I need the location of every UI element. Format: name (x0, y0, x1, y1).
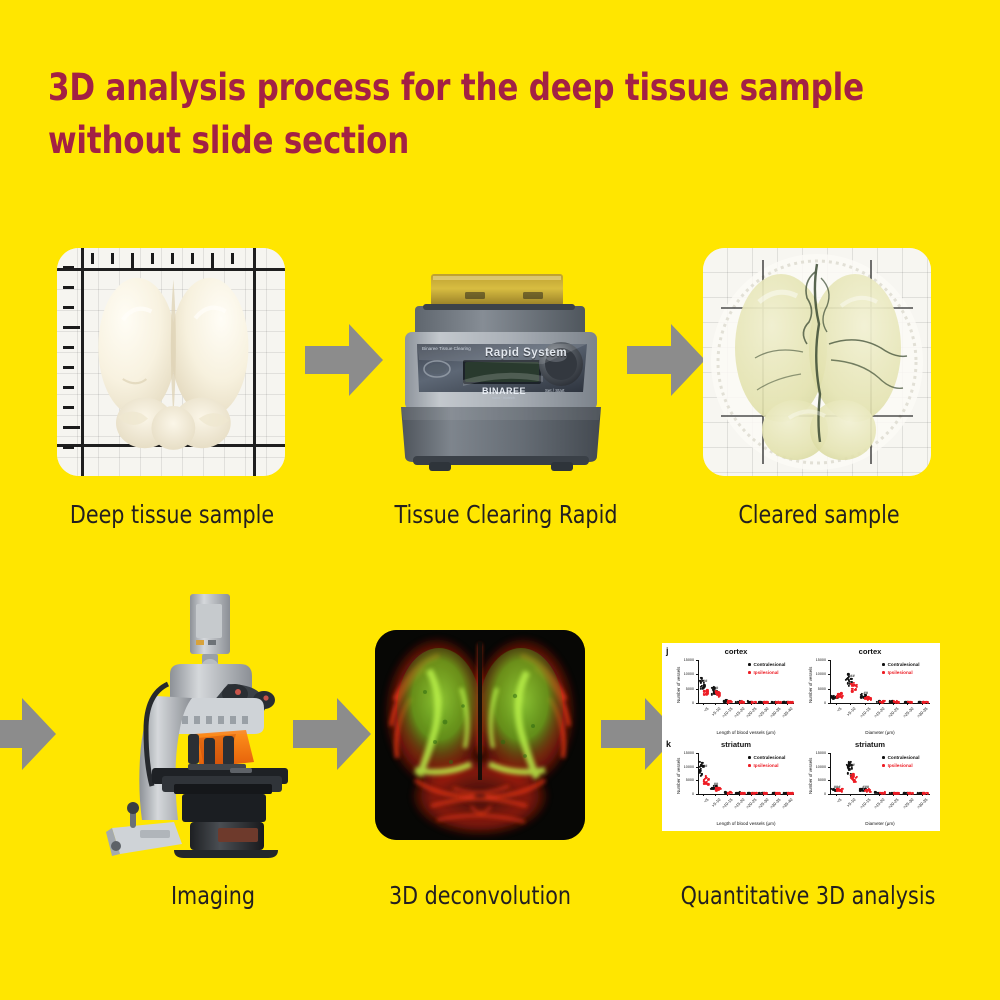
chart-legend-item: Ipsilesional (748, 670, 786, 675)
chart-legend: ContralesionalIpsilesional (882, 755, 920, 771)
arrow-right-icon (627, 324, 705, 396)
chart-y-axis-label: Number of vessels (808, 667, 813, 703)
chart-legend-label: Contralesional (888, 662, 920, 667)
chart-legend-item: Contralesional (882, 755, 920, 760)
chart-x-tick-mark (703, 703, 704, 705)
legend-swatch-icon (748, 671, 751, 674)
chart-x-tick-mark (787, 703, 788, 705)
chart-x-tick-mark (879, 794, 880, 796)
legend-swatch-icon (748, 663, 751, 666)
chart-y-tick-label: 15000 (672, 751, 694, 755)
chart-x-tick-mark (703, 794, 704, 796)
ruler-line-left (81, 248, 84, 476)
chart-legend: ContralesionalIpsilesional (748, 662, 786, 678)
chart-data-point (851, 690, 853, 692)
caption-tissue-clearing: Tissue Clearing Rapid (372, 500, 641, 529)
chart-y-tick-label: 15000 (804, 658, 826, 662)
chart-legend-item: Contralesional (748, 755, 786, 760)
chart-data-point (869, 790, 871, 792)
chart-x-tick-mark (727, 703, 728, 705)
arrow-right-icon (293, 698, 371, 770)
legend-swatch-icon (882, 764, 885, 767)
chart-y-tick-mark (696, 794, 698, 795)
chart-x-tick-mark (763, 794, 764, 796)
chart-x-tick-mark (850, 703, 851, 705)
legend-swatch-icon (748, 756, 751, 759)
chart-legend-label: Contralesional (754, 662, 786, 667)
chart-legend-item: Ipsilesional (882, 763, 920, 768)
arrow-right-icon (0, 698, 56, 770)
chart-x-axis-label: Length of blood vessels (μm) (698, 730, 794, 735)
chart-legend-label: Contralesional (888, 755, 920, 760)
chart-x-tick-mark (850, 794, 851, 796)
chart-y-tick-mark (696, 689, 698, 690)
chart-y-tick-mark (828, 660, 830, 661)
chart-x-tick-mark (727, 794, 728, 796)
poster-root: 3D analysis process for the deep tissue … (0, 0, 1000, 1000)
chart-y-tick-mark (696, 660, 698, 661)
chart-title: striatum (804, 740, 936, 749)
page-title: 3D analysis process for the deep tissue … (48, 62, 885, 167)
chart-x-tick-mark (893, 794, 894, 796)
chart-x-tick-mark (922, 794, 923, 796)
chart-legend-item: Contralesional (882, 662, 920, 667)
chart-x-axis (830, 703, 930, 704)
chart-data-point (719, 788, 721, 790)
fluorescence-image (375, 630, 585, 840)
chart-data-point (706, 693, 708, 695)
chart-legend: ContralesionalIpsilesional (748, 755, 786, 771)
chart-significance-marker: ### (701, 678, 708, 683)
chart-x-tick-mark (865, 794, 866, 796)
chart-legend-item: Ipsilesional (748, 763, 786, 768)
chart-y-tick-mark (828, 689, 830, 690)
chart-title: cortex (804, 647, 936, 656)
chart-data-point (700, 775, 702, 777)
device-photo (393, 252, 619, 478)
brain-photo-cleared (703, 248, 931, 476)
chart-y-tick-mark (828, 703, 830, 704)
chart-y-axis-label: Number of vessels (808, 758, 813, 794)
chart-significance-marker: ### (701, 763, 708, 768)
brain-photo-opaque (89, 255, 258, 469)
thumb-cleared-sample (703, 248, 931, 476)
chart-significance-marker: ### (848, 762, 855, 767)
chart-x-tick-mark (836, 703, 837, 705)
chart-legend-label: Contralesional (754, 755, 786, 760)
chart-legend-label: Ipsilesional (754, 670, 779, 675)
thumb-quantitative-analysis: j k cortex050001000015000Number of vesse… (662, 643, 940, 831)
thumb-3d-deconvolution (375, 630, 585, 840)
chart-x-tick-mark (787, 794, 788, 796)
chart-x-axis-label: Diameter (μm) (830, 821, 930, 826)
chart-title: cortex (672, 647, 800, 656)
chart-legend-item: Ipsilesional (882, 670, 920, 675)
chart-y-tick-label: 15000 (672, 658, 694, 662)
thumb-tissue-clearing-device: Rapid System Binaree Tissue Clearing BIN… (393, 252, 619, 478)
chart-legend: ContralesionalIpsilesional (882, 662, 920, 678)
chart-x-tick-mark (775, 703, 776, 705)
chart-legend-item: Contralesional (748, 662, 786, 667)
thumb-deep-tissue-sample (57, 248, 285, 476)
caption-quantitative-analysis: Quantitative 3D analysis (661, 881, 955, 910)
chart-x-tick-mark (715, 703, 716, 705)
chart-legend-label: Ipsilesional (888, 763, 913, 768)
caption-cleared-sample: Cleared sample (700, 500, 937, 529)
legend-swatch-icon (882, 671, 885, 674)
chart-x-tick-mark (739, 794, 740, 796)
chart-significance-marker: ### (834, 784, 841, 789)
chart-data-point (883, 700, 885, 702)
legend-swatch-icon (882, 756, 885, 759)
chart-y-axis (698, 753, 699, 794)
chart-x-tick-mark (922, 703, 923, 705)
ruler-left-ticks (63, 248, 79, 476)
caption-3d-deconvolution: 3D deconvolution (365, 881, 595, 910)
chart-title: striatum (672, 740, 800, 749)
chart-y-tick-mark (696, 674, 698, 675)
chart-y-tick-label: 15000 (804, 751, 826, 755)
chart-x-axis (698, 794, 794, 795)
chart-j-diameter: cortex050001000015000Number of vessels<5… (804, 647, 936, 737)
chart-k-length: striatum050001000015000Number of vessels… (672, 740, 800, 828)
chart-y-tick-mark (696, 703, 698, 704)
chart-x-tick-mark (751, 794, 752, 796)
chart-y-tick-mark (696, 780, 698, 781)
chart-y-tick-mark (828, 767, 830, 768)
chart-y-tick-mark (828, 674, 830, 675)
chart-y-tick-mark (828, 794, 830, 795)
chart-x-tick-mark (836, 794, 837, 796)
chart-y-tick-mark (828, 780, 830, 781)
legend-swatch-icon (882, 663, 885, 666)
chart-significance-marker: ## (714, 781, 718, 786)
chart-significance-marker: ### (862, 784, 869, 789)
chart-significance-marker: ## (714, 685, 718, 690)
caption-imaging: Imaging (103, 881, 324, 910)
chart-legend-label: Ipsilesional (754, 763, 779, 768)
chart-x-tick-mark (893, 703, 894, 705)
legend-swatch-icon (748, 764, 751, 767)
chart-x-tick-mark (715, 794, 716, 796)
chart-x-tick-mark (879, 703, 880, 705)
chart-x-tick-mark (739, 703, 740, 705)
chart-y-tick-mark (696, 767, 698, 768)
chart-data-point (854, 688, 856, 690)
chart-x-tick-mark (751, 703, 752, 705)
chart-x-axis-label: Length of blood vessels (μm) (698, 821, 794, 826)
chart-data-point (848, 768, 850, 770)
chart-y-axis-label: Number of vessels (676, 667, 681, 703)
chart-j-length: cortex050001000015000Number of vessels<5… (672, 647, 800, 737)
chart-y-tick-mark (828, 753, 830, 754)
chart-legend-label: Ipsilesional (888, 670, 913, 675)
chart-data-point (855, 776, 857, 778)
chart-significance-marker: ### (848, 673, 855, 678)
chart-data-point (707, 783, 709, 785)
chart-x-tick-mark (907, 703, 908, 705)
chart-x-tick-mark (775, 794, 776, 796)
chart-x-axis-label: Diameter (μm) (830, 730, 930, 735)
chart-x-tick-mark (907, 794, 908, 796)
arrow-right-icon (305, 324, 383, 396)
chart-data-point (700, 768, 702, 770)
chart-x-tick-mark (865, 703, 866, 705)
chart-y-axis-label: Number of vessels (676, 758, 681, 794)
chart-y-tick-mark (696, 753, 698, 754)
chart-k-diameter: striatum050001000015000Number of vessels… (804, 740, 936, 828)
caption-deep-tissue-sample: Deep tissue sample (48, 500, 296, 529)
charts-host: cortex050001000015000Number of vessels<5… (662, 643, 940, 831)
chart-significance-marker: ## (863, 690, 867, 695)
chart-x-tick-mark (763, 703, 764, 705)
chart-data-point (850, 767, 852, 769)
chart-data-point (707, 778, 709, 780)
